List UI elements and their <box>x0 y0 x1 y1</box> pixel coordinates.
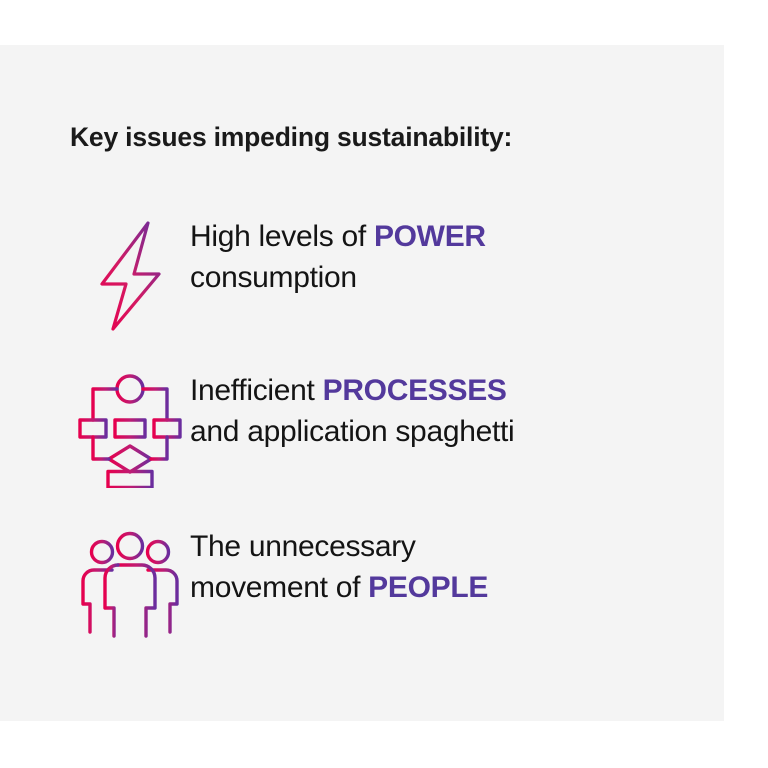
issue-line-1-prefix: The unnecessary <box>190 530 416 563</box>
issue-keyword-power: POWER <box>374 220 486 253</box>
issue-text-cell: Inefficient PROCESSES and application sp… <box>190 366 690 452</box>
page-title: Key issues impeding sustainability: <box>70 122 512 153</box>
issue-keyword-processes: PROCESSES <box>323 374 507 407</box>
slide-canvas: Key issues impeding sustainability: High… <box>0 0 768 768</box>
three-people-icon <box>70 522 190 640</box>
issue-line-2-prefix: and application spaghetti <box>190 415 514 448</box>
issue-line-1-prefix: Inefficient <box>190 374 323 407</box>
issue-line-2-prefix: movement of <box>190 571 368 604</box>
issue-line-1: The unnecessary <box>190 526 690 567</box>
lightning-bolt-icon <box>70 212 190 334</box>
issue-line-2: and application spaghetti <box>190 411 690 452</box>
issue-line-2: consumption <box>190 257 690 298</box>
issue-item-processes: Inefficient PROCESSES and application sp… <box>70 366 690 488</box>
issue-line-2: movement of PEOPLE <box>190 567 690 608</box>
issue-text-cell: The unnecessary movement of PEOPLE <box>190 522 690 608</box>
flowchart-process-icon <box>70 366 190 488</box>
issue-keyword-people: PEOPLE <box>368 571 488 604</box>
issue-line-1: High levels of POWER <box>190 216 690 257</box>
issue-item-power: High levels of POWER consumption <box>70 212 690 334</box>
issue-text-cell: High levels of POWER consumption <box>190 212 690 298</box>
issue-item-people: The unnecessary movement of PEOPLE <box>70 522 690 640</box>
issue-line-1: Inefficient PROCESSES <box>190 370 690 411</box>
issue-line-2-prefix: consumption <box>190 261 357 294</box>
issue-line-1-prefix: High levels of <box>190 220 374 253</box>
